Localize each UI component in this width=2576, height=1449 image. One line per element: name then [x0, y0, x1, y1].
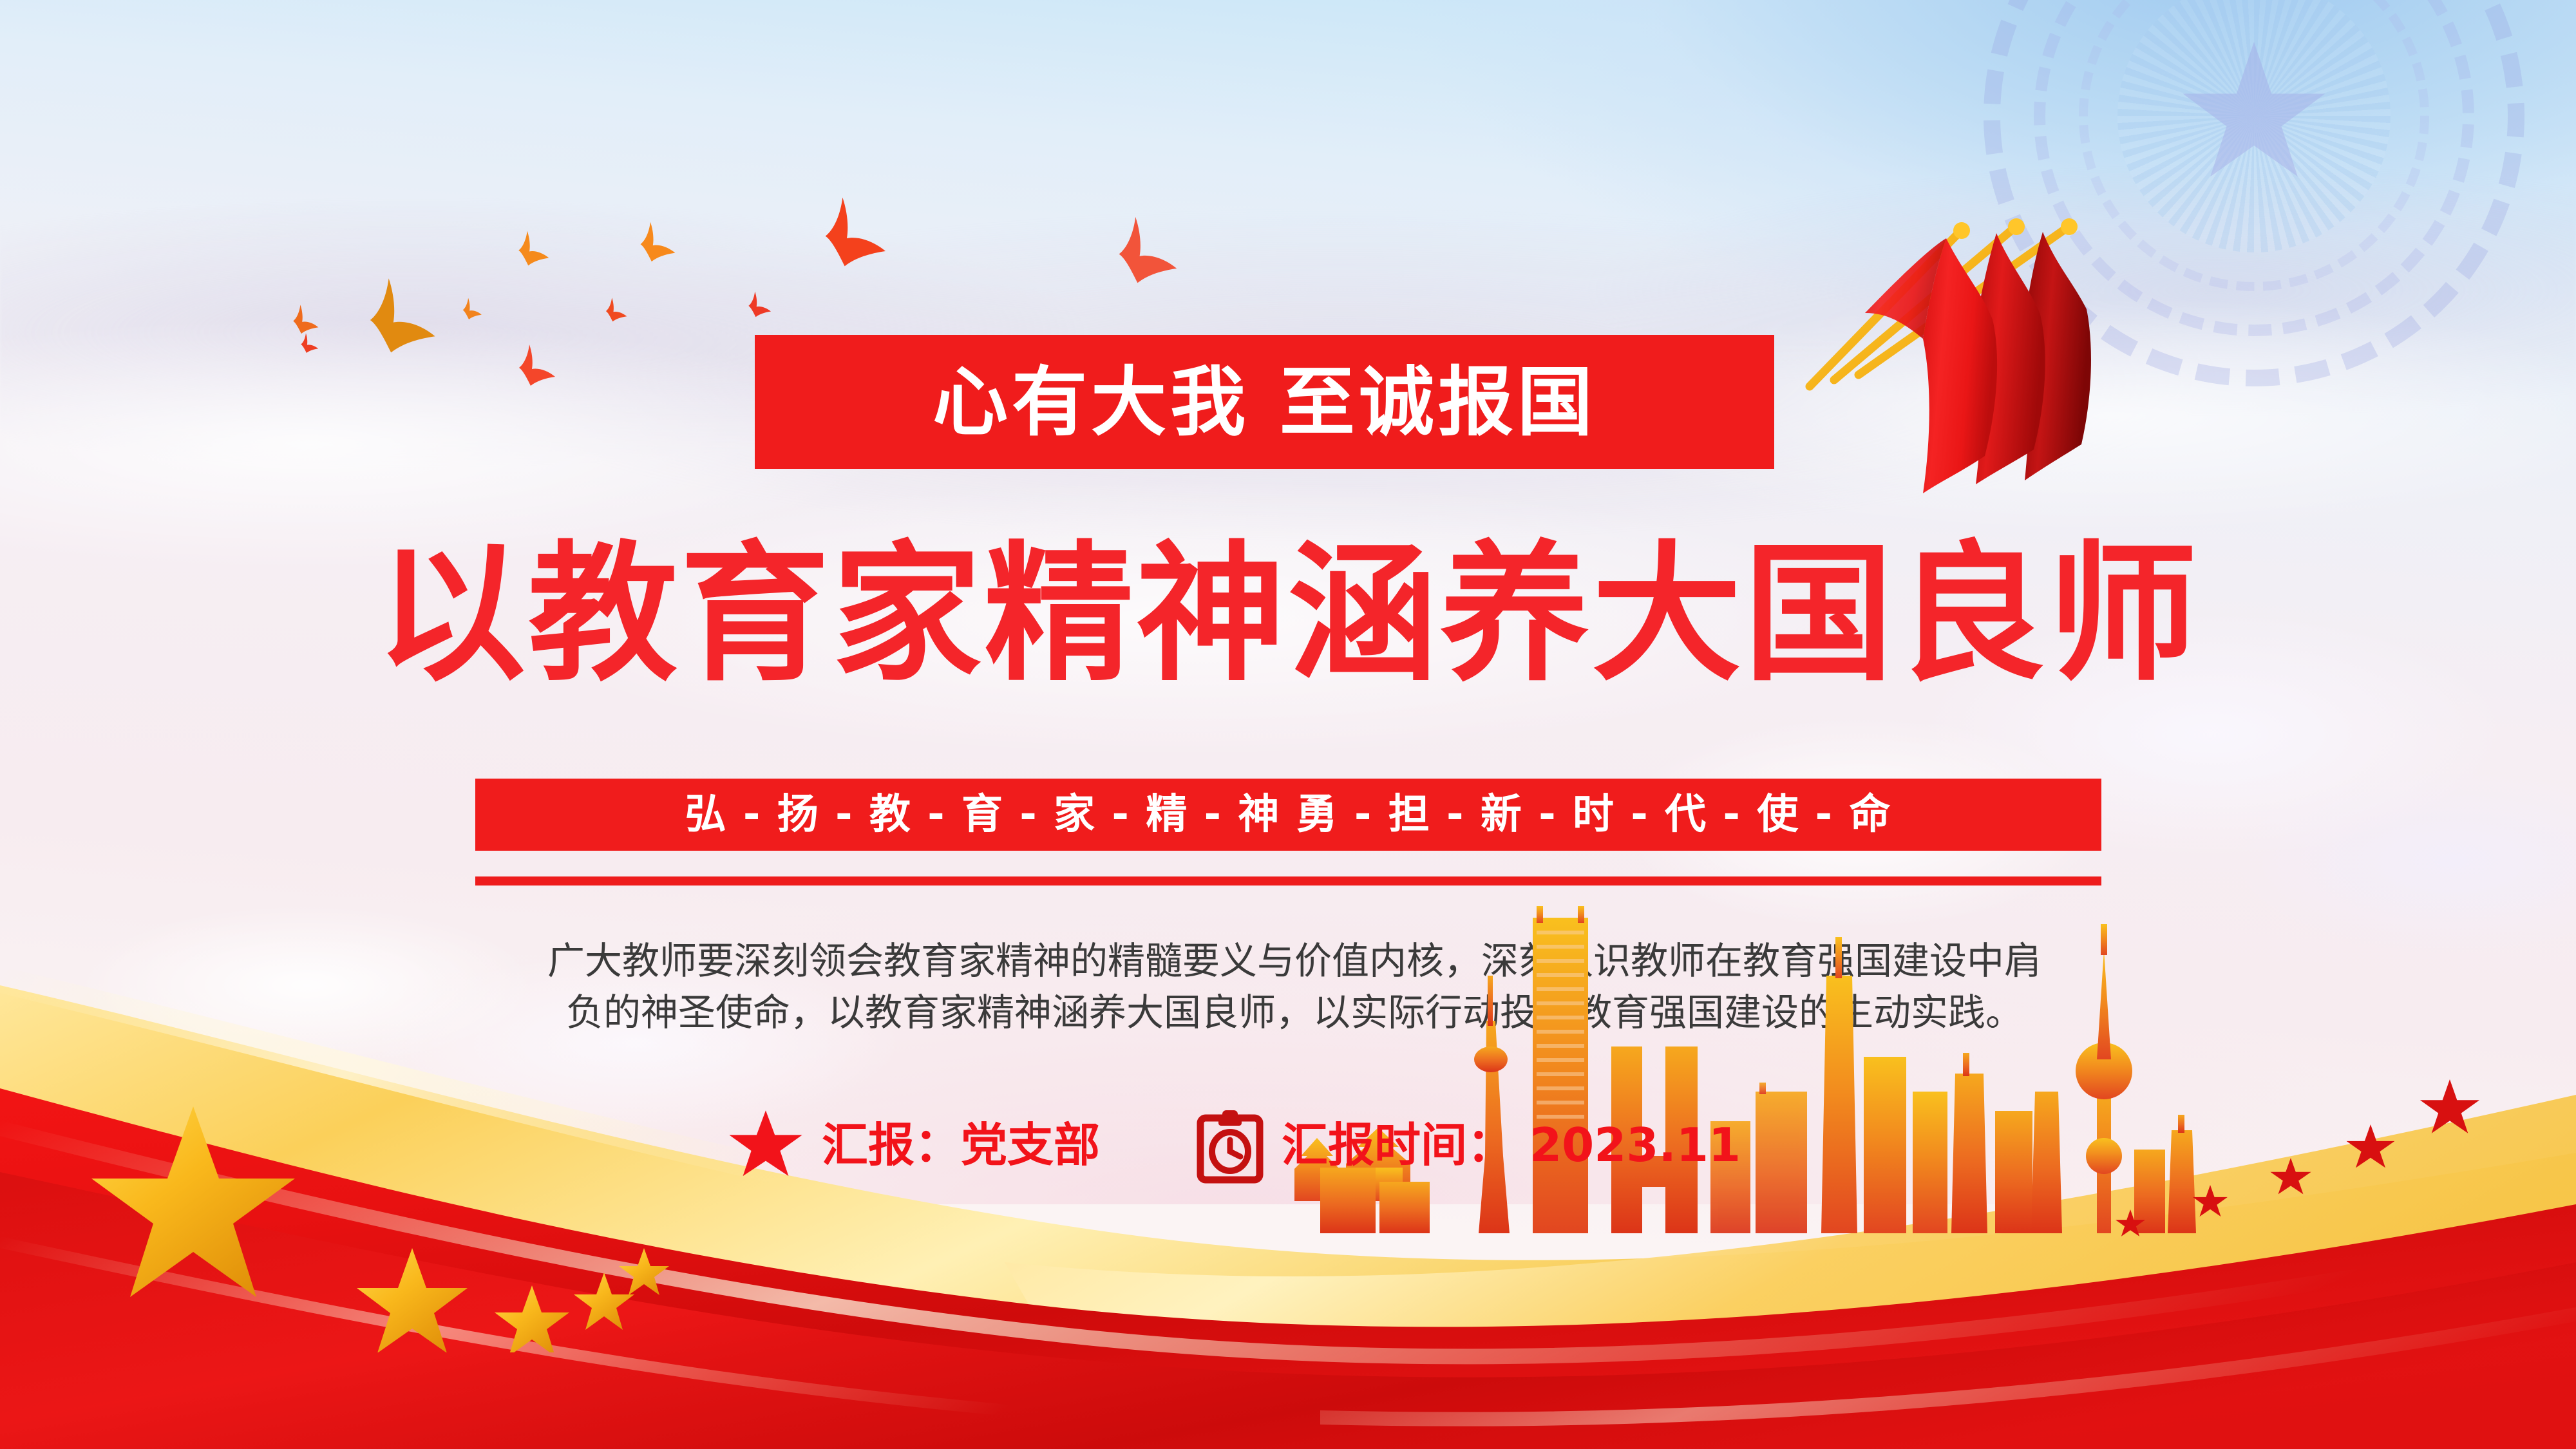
bird-icon — [618, 219, 680, 276]
reporter-info: 汇报：党支部 — [728, 1109, 1100, 1181]
bird-icon — [290, 332, 321, 360]
bird-icon — [499, 229, 553, 278]
subtitle-bar: 弘 - 扬 - 教 - 育 - 家 - 精 - 神 勇 - 担 - 新 - 时 … — [475, 779, 2101, 851]
slogan-text: 心有大我 至诚报国 — [933, 365, 1596, 440]
bird-icon — [451, 296, 484, 327]
red-star-5 — [2115, 1209, 2146, 1239]
poster-canvas: 心有大我 至诚报国 以教育家精神涵养大国良师 弘 - 扬 - 教 - 育 - 家… — [0, 0, 2576, 1449]
five-gold-stars-icon — [77, 1082, 696, 1352]
bird-icon — [592, 296, 630, 330]
five-red-stars-icon — [1971, 1063, 2486, 1256]
subtitle-underline — [475, 876, 2101, 885]
subtitle-text: 弘 - 扬 - 教 - 育 - 家 - 精 - 神 勇 - 担 - 新 - 时 … — [685, 794, 1892, 835]
slogan-banner: 心有大我 至诚报国 — [755, 335, 1774, 469]
three-red-flags-icon — [1803, 187, 2202, 496]
red-star-3 — [2269, 1158, 2312, 1198]
bird-icon — [328, 274, 444, 378]
bird-icon — [734, 290, 774, 326]
date-label: 汇报时间： 2023.11 — [1282, 1122, 1741, 1168]
reporter-label: 汇报：党支部 — [822, 1122, 1100, 1168]
info-row: 汇报：党支部 汇报时间： 2023.11 — [728, 1106, 1741, 1184]
red-star-1 — [2419, 1079, 2481, 1139]
date-info: 汇报时间： 2023.11 — [1197, 1106, 1741, 1184]
red-star-2 — [2345, 1124, 2396, 1172]
bird-icon — [496, 341, 560, 401]
bird-icon — [1082, 213, 1185, 306]
bird-icon — [786, 193, 895, 290]
red-star-4 — [2192, 1185, 2228, 1220]
clipboard-clock-icon — [1197, 1106, 1264, 1184]
star-icon — [728, 1109, 804, 1181]
page-title: 以教育家精神涵养大国良师 — [0, 540, 2576, 689]
